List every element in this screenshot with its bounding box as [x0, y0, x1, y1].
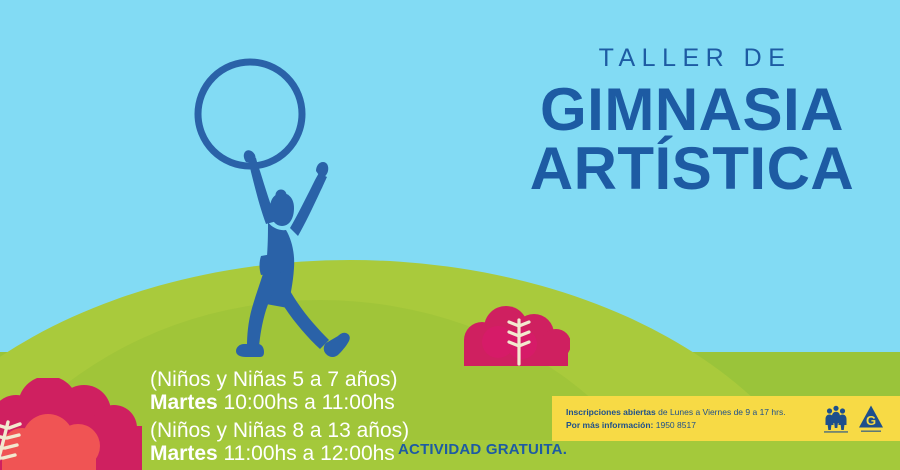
- registration-line-1: Inscripciones abiertas de Lunes a Vierne…: [566, 406, 823, 418]
- logo-group: G: [823, 404, 884, 434]
- schedule-time: Martes 10:00hs a 11:00hs: [150, 392, 409, 415]
- registration-line-2-bold: Por más información:: [566, 420, 653, 430]
- registration-info-bar: Inscripciones abiertas de Lunes a Vierne…: [552, 396, 900, 441]
- flower-bush-right-icon: [462, 306, 570, 366]
- schedule-group: (Niños y Niñas 8 a 13 años) Martes 11:00…: [150, 420, 409, 465]
- schedule-ages: (Niños y Niñas 5 a 7 años): [150, 369, 409, 392]
- schedule-group: (Niños y Niñas 5 a 7 años) Martes 10:00h…: [150, 369, 409, 414]
- headline-line-2: ARTÍSTICA: [500, 140, 884, 199]
- schedule-ages: (Niños y Niñas 8 a 13 años): [150, 420, 409, 443]
- poster-canvas: TALLER DE GIMNASIA ARTÍSTICA (Niños y Ni…: [0, 0, 900, 470]
- registration-line-1-bold: Inscripciones abiertas: [566, 407, 656, 417]
- free-activity-label: ACTIVIDAD GRATUITA.: [398, 441, 567, 458]
- schedule-hours: 10:00hs a 11:00hs: [224, 391, 395, 414]
- schedule-block: (Niños y Niñas 5 a 7 años) Martes 10:00h…: [150, 369, 409, 466]
- registration-line-2-rest: 1950 8517: [653, 420, 696, 430]
- gymnast-with-hoop-icon: [182, 52, 368, 364]
- schedule-time: Martes 11:00hs a 12:00hs: [150, 443, 409, 466]
- title-block: TALLER DE GIMNASIA ARTÍSTICA: [500, 46, 884, 199]
- registration-line-2: Por más información: 1950 8517: [566, 419, 823, 431]
- svg-text:G: G: [866, 413, 876, 428]
- registration-info-text: Inscripciones abiertas de Lunes a Vierne…: [566, 406, 823, 430]
- municipality-g-logo-icon: G: [858, 404, 884, 434]
- schedule-hours: 11:00hs a 12:00hs: [224, 442, 395, 465]
- headline-line-1: GIMNASIA: [540, 76, 844, 143]
- schedule-day: Martes: [150, 391, 218, 414]
- kicker-text: TALLER DE: [506, 46, 884, 71]
- page-title: GIMNASIA ARTÍSTICA: [500, 81, 884, 199]
- flower-bush-left-icon: [0, 378, 146, 470]
- schedule-day: Martes: [150, 442, 218, 465]
- community-people-logo-icon: [823, 404, 849, 434]
- registration-line-1-rest: de Lunes a Viernes de 9 a 17 hrs.: [656, 407, 786, 417]
